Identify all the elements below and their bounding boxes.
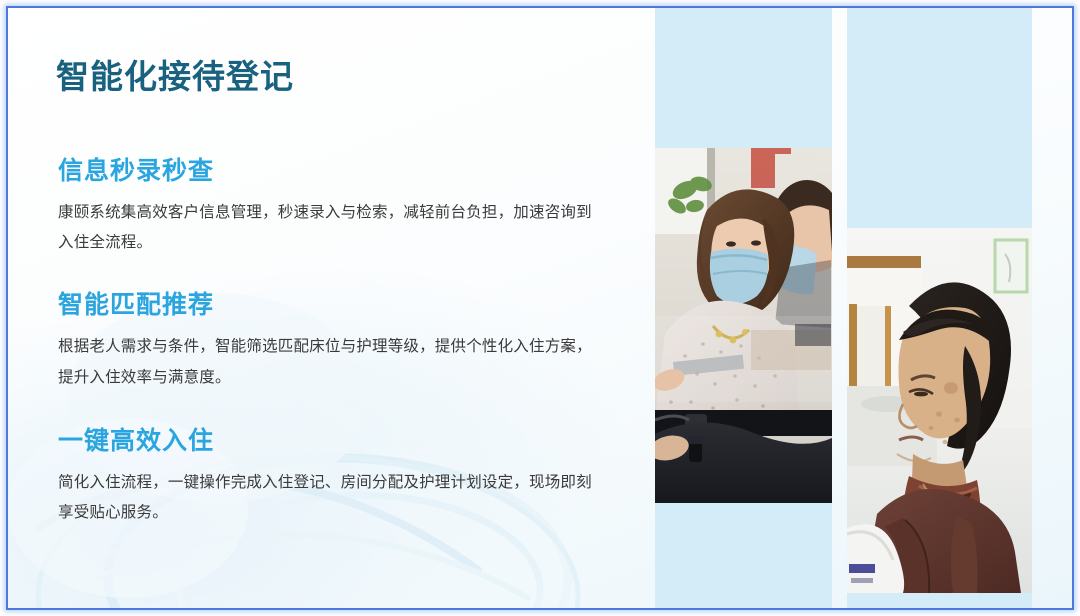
page-title: 智能化接待登记 <box>56 50 294 98</box>
feature-list: 信息秒录秒查 康颐系统集高效客户信息管理，秒速录入与检索，减轻前台负担，加速咨询… <box>58 156 618 528</box>
feature-heading: 一键高效入住 <box>58 426 618 456</box>
feature-body: 根据老人需求与条件，智能筛选匹配床位与护理等级，提供个性化入住方案，提升入住效率… <box>58 332 598 392</box>
feature-section: 一键高效入住 简化入住流程，一键操作完成入住登记、房间分配及护理计划设定，现场即… <box>58 426 618 528</box>
feature-heading: 信息秒录秒查 <box>58 156 618 186</box>
feature-section: 信息秒录秒查 康颐系统集高效客户信息管理，秒速录入与检索，减轻前台负担，加速咨询… <box>58 156 618 258</box>
feature-body: 简化入住流程，一键操作完成入住登记、房间分配及护理计划设定，现场即刻享受贴心服务… <box>58 468 598 528</box>
slide-root: 智能化接待登记 信息秒录秒查 康颐系统集高效客户信息管理，秒速录入与检索，减轻前… <box>0 0 1080 616</box>
elderly-resident-photo <box>847 228 1032 593</box>
feature-heading: 智能匹配推荐 <box>58 290 618 320</box>
feature-body: 康颐系统集高效客户信息管理，秒速录入与检索，减轻前台负担，加速咨询到入住全流程。 <box>58 198 598 258</box>
reception-desk-photo <box>655 148 832 503</box>
slide-canvas: 智能化接待登记 信息秒录秒查 康颐系统集高效客户信息管理，秒速录入与检索，减轻前… <box>8 8 1072 608</box>
feature-section: 智能匹配推荐 根据老人需求与条件，智能筛选匹配床位与护理等级，提供个性化入住方案… <box>58 290 618 392</box>
